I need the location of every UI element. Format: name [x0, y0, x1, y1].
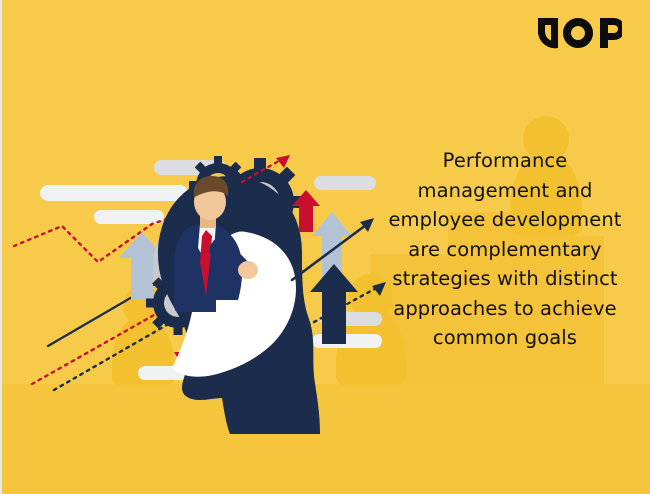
jop-logo[interactable]: [538, 18, 622, 52]
banner-canvas: Performance management and employee deve…: [0, 0, 650, 494]
headline-line-1: Performance: [380, 146, 630, 176]
headline-line-6: approaches to achieve: [380, 294, 630, 324]
red-dotted-diagonal: [32, 306, 170, 384]
headline-text: Performance management and employee deve…: [380, 146, 630, 353]
businessman-hand: [238, 261, 258, 279]
illustration-root: [2, 0, 402, 494]
headline-line-5: strategies with distinct: [380, 264, 630, 294]
headline-line-7: common goals: [380, 323, 630, 353]
headline-line-3: employee development: [380, 205, 630, 235]
headline-line-2: management and: [380, 176, 630, 206]
headline-line-4: are complementary: [380, 235, 630, 265]
jop-logo-mark: [538, 18, 622, 48]
